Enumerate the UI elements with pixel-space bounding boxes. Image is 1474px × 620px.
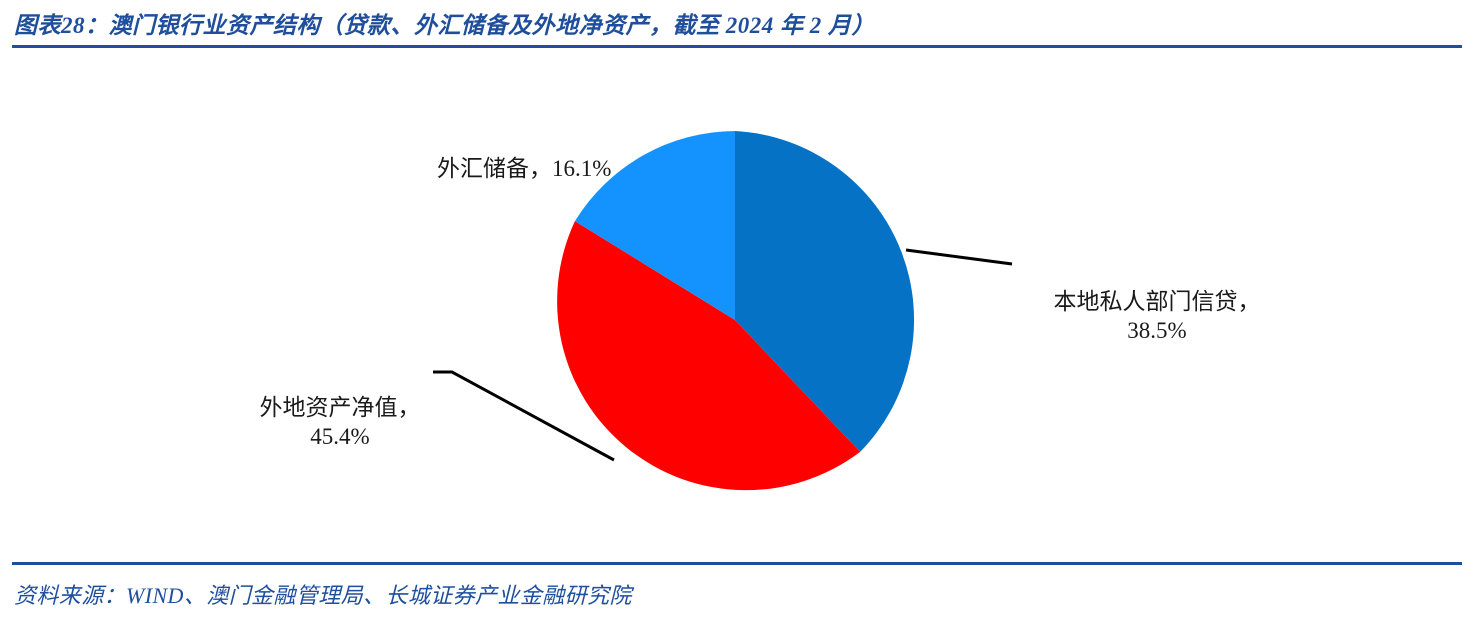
header-divider	[12, 45, 1462, 48]
footer-divider	[12, 562, 1462, 565]
source-note: 资料来源：WIND、澳门金融管理局、长城证券产业金融研究院	[14, 578, 632, 610]
pie-label-credit-line2: 38.5%	[1022, 317, 1292, 346]
leader-line-credit	[906, 250, 1012, 264]
pie-label-credit-line1: 本地私人部门信贷，	[1054, 289, 1261, 314]
pie-label-fx-reserves-text: 外汇储备，16.1%	[437, 156, 611, 181]
pie-label-external-net-assets-line2: 45.4%	[240, 423, 440, 452]
pie-chart: 外汇储备，16.1% 本地私人部门信贷， 38.5% 外地资产净值， 45.4%	[0, 50, 1474, 550]
pie-label-credit: 本地私人部门信贷， 38.5%	[1022, 288, 1292, 346]
figure-page: 图表28：澳门银行业资产结构（贷款、外汇储备及外地净资产，截至 2024 年 2…	[0, 0, 1474, 620]
pie-label-external-net-assets-line1: 外地资产净值，	[260, 395, 421, 420]
pie-label-fx-reserves: 外汇储备，16.1%	[437, 155, 611, 184]
page-title: 图表28：澳门银行业资产结构（贷款、外汇储备及外地净资产，截至 2024 年 2…	[14, 6, 875, 40]
pie-label-external-net-assets: 外地资产净值， 45.4%	[240, 394, 440, 452]
